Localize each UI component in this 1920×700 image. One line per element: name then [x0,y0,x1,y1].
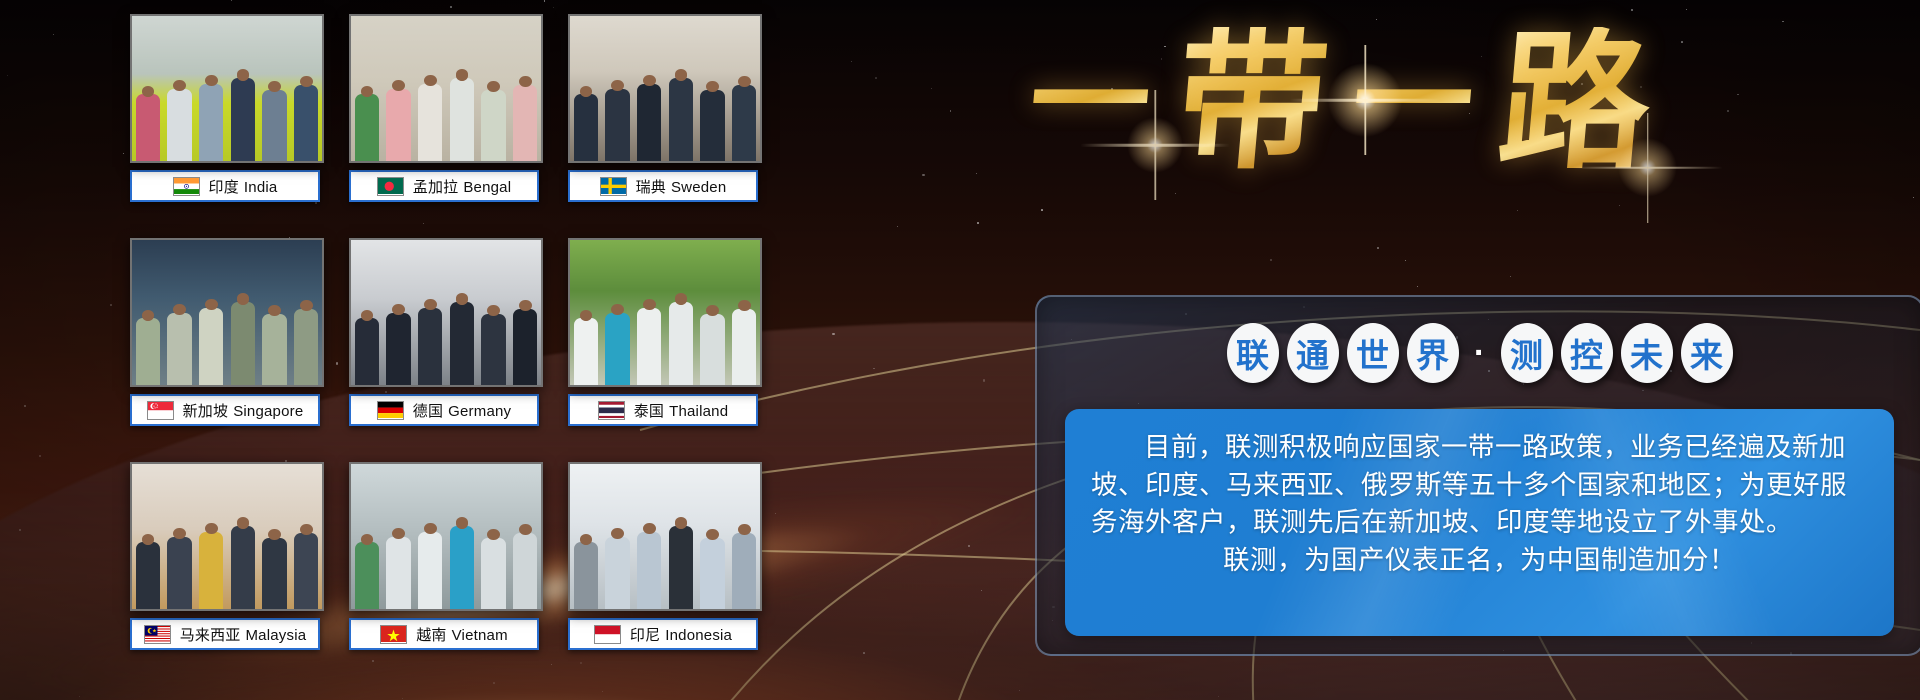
indonesia-photo[interactable] [568,462,762,611]
about-paragraph-line-1: 目前，联测积极响应国家一带一路政策，业务已经遍及新加坡、印度、马来西亚、俄罗斯等… [1091,429,1868,542]
caption-label: 印度 India [209,176,278,197]
partner-photo-grid: 印度 India孟加拉 Bengal瑞典 Sweden新加坡 Singapore… [130,14,758,686]
photo-people-silhouettes [132,54,322,161]
flag-icon-in [173,177,200,196]
slogan-char-2: 通 [1287,323,1339,383]
photo-caption-sweden[interactable]: 瑞典 Sweden [568,170,758,202]
flag-icon-de [377,401,404,420]
photo-card-bengal[interactable]: 孟加拉 Bengal [349,14,539,202]
photo-people-silhouettes [132,502,322,609]
flag-icon-id [594,625,621,644]
malaysia-photo[interactable] [130,462,324,611]
calligraphy-char-1: 一 [1025,42,1155,162]
flag-icon-sg [147,401,174,420]
caption-label: 越南 Vietnam [416,624,508,645]
calligraphy-char-4: 路 [1493,27,1656,177]
slogan-char-3: 世 [1347,323,1399,383]
slogan-separator-dot: · [1467,323,1493,383]
photo-people-silhouettes [351,278,541,385]
bengal-photo[interactable] [349,14,543,163]
photo-caption-bengal[interactable]: 孟加拉 Bengal [349,170,539,202]
flag-icon-th [598,401,625,420]
photo-people-silhouettes [351,54,541,161]
slogan-char-9: 来 [1681,323,1733,383]
slogan-char-8: 未 [1621,323,1673,383]
vietnam-photo[interactable] [349,462,543,611]
flag-icon-bd [377,177,404,196]
caption-label: 德国 Germany [413,400,511,421]
caption-label: 马来西亚 Malaysia [180,624,307,645]
photo-card-thailand[interactable]: 泰国 Thailand [568,238,758,426]
company-slogan: 联通世界·测控未来 [1037,323,1920,383]
photo-caption-germany[interactable]: 德国 Germany [349,394,539,426]
slogan-char-7: 控 [1561,323,1613,383]
photo-caption-malaysia[interactable]: 马来西亚 Malaysia [130,618,320,650]
photo-people-silhouettes [570,502,760,609]
photo-card-india[interactable]: 印度 India [130,14,320,202]
photo-card-malaysia[interactable]: 马来西亚 Malaysia [130,462,320,650]
info-panel: 联通世界·测控未来 目前，联测积极响应国家一带一路政策，业务已经遍及新加坡、印度… [1035,295,1920,656]
flag-icon-vn [380,625,407,644]
photo-people-silhouettes [570,278,760,385]
caption-label: 印尼 Indonesia [630,624,732,645]
photo-caption-india[interactable]: 印度 India [130,170,320,202]
singapore-photo[interactable] [130,238,324,387]
germany-photo[interactable] [349,238,543,387]
photo-caption-vietnam[interactable]: 越南 Vietnam [349,618,539,650]
photo-people-silhouettes [570,54,760,161]
slogan-char-6: 测 [1501,323,1553,383]
photo-caption-thailand[interactable]: 泰国 Thailand [568,394,758,426]
flag-icon-my [144,625,171,644]
slogan-char-1: 联 [1227,323,1279,383]
photo-caption-singapore[interactable]: 新加坡 Singapore [130,394,320,426]
banner-stage: 印度 India孟加拉 Bengal瑞典 Sweden新加坡 Singapore… [0,0,1920,700]
photo-card-sweden[interactable]: 瑞典 Sweden [568,14,758,202]
photo-card-germany[interactable]: 德国 Germany [349,238,539,426]
calligraphy-char-2: 带 [1170,27,1333,177]
caption-label: 瑞典 Sweden [636,176,727,197]
photo-card-singapore[interactable]: 新加坡 Singapore [130,238,320,426]
caption-label: 新加坡 Singapore [183,400,304,421]
about-paragraph-box: 目前，联测积极响应国家一带一路政策，业务已经遍及新加坡、印度、马来西亚、俄罗斯等… [1065,409,1894,636]
photo-people-silhouettes [132,278,322,385]
flag-icon-se [600,177,627,196]
photo-card-indonesia[interactable]: 印尼 Indonesia [568,462,758,650]
photo-people-silhouettes [351,502,541,609]
thailand-photo[interactable] [568,238,762,387]
caption-label: 孟加拉 Bengal [413,176,512,197]
caption-label: 泰国 Thailand [634,400,729,421]
photo-caption-indonesia[interactable]: 印尼 Indonesia [568,618,758,650]
calligraphy-char-3: 一 [1348,42,1478,162]
photo-card-vietnam[interactable]: 越南 Vietnam [349,462,539,650]
slogan-char-4: 界 [1407,323,1459,383]
india-photo[interactable] [130,14,324,163]
belt-and-road-calligraphy: 一 带 一 路 [1030,2,1650,202]
about-paragraph-line-2: 联测，为国产仪表正名，为中国制造加分！ [1091,542,1868,580]
sweden-photo[interactable] [568,14,762,163]
